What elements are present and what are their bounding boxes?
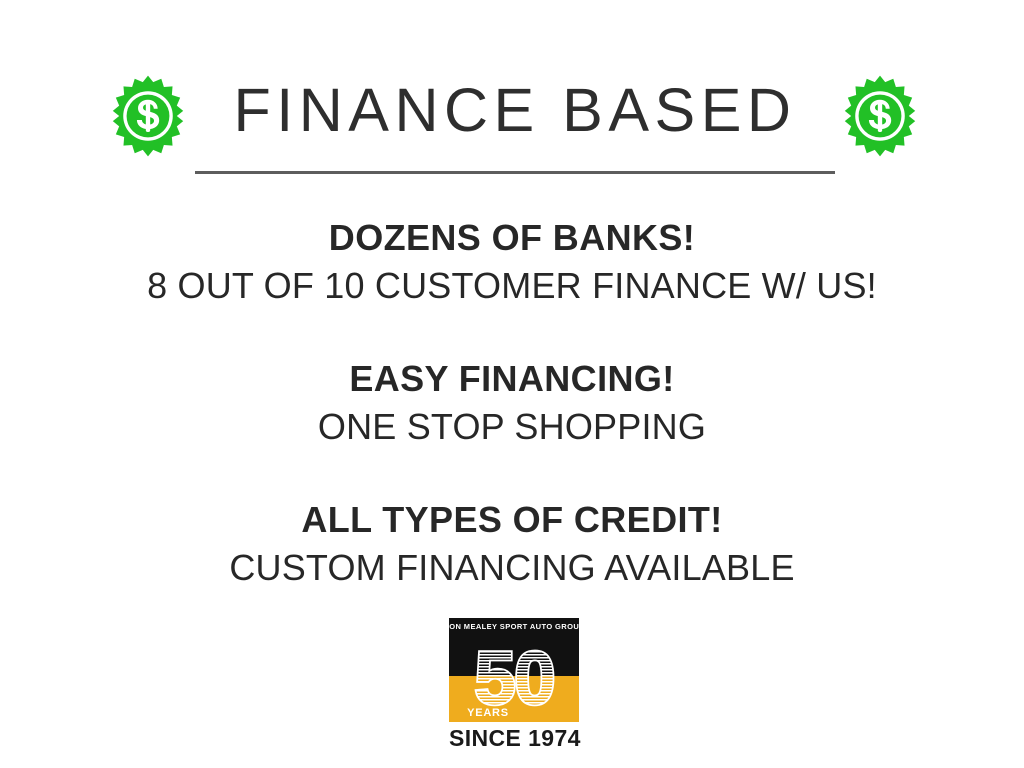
title-divider: [195, 171, 835, 174]
selling-point-headline: ALL TYPES OF CREDIT!: [0, 496, 1024, 544]
anniversary-word-text: YEARS: [467, 707, 509, 719]
page-title: FINANCE BASED: [195, 78, 835, 142]
anniversary-badge: DON MEALEY SPORT AUTO GROUP 50 50 YEARS: [449, 618, 579, 722]
selling-point-block: EASY FINANCING! ONE STOP SHOPPING: [0, 355, 1024, 450]
dealer-logo: DON MEALEY SPORT AUTO GROUP 50 50 YEARS …: [449, 618, 579, 752]
selling-point-subline: 8 OUT OF 10 CUSTOMER FINANCE W/ US!: [0, 262, 1024, 310]
selling-point-subline: ONE STOP SHOPPING: [0, 403, 1024, 451]
selling-point-block: ALL TYPES OF CREDIT! CUSTOM FINANCING AV…: [0, 496, 1024, 591]
selling-point-headline: DOZENS OF BANKS!: [0, 214, 1024, 262]
finance-based-slide: FINANCE BASED DOZENS OF BANKS! 8 OUT OF: [0, 0, 1024, 768]
selling-point-subline: CUSTOM FINANCING AVAILABLE: [0, 544, 1024, 592]
since-text: SINCE 1974: [449, 725, 579, 752]
selling-point-block: DOZENS OF BANKS! 8 OUT OF 10 CUSTOMER FI…: [0, 214, 1024, 309]
money-gear-icon: [106, 74, 190, 158]
dealer-name-text: DON MEALEY SPORT AUTO GROUP: [449, 622, 579, 631]
money-gear-icon: [838, 74, 922, 158]
selling-point-headline: EASY FINANCING!: [0, 355, 1024, 403]
slide-header: FINANCE BASED: [0, 74, 1024, 184]
selling-points: DOZENS OF BANKS! 8 OUT OF 10 CUSTOMER FI…: [0, 214, 1024, 591]
